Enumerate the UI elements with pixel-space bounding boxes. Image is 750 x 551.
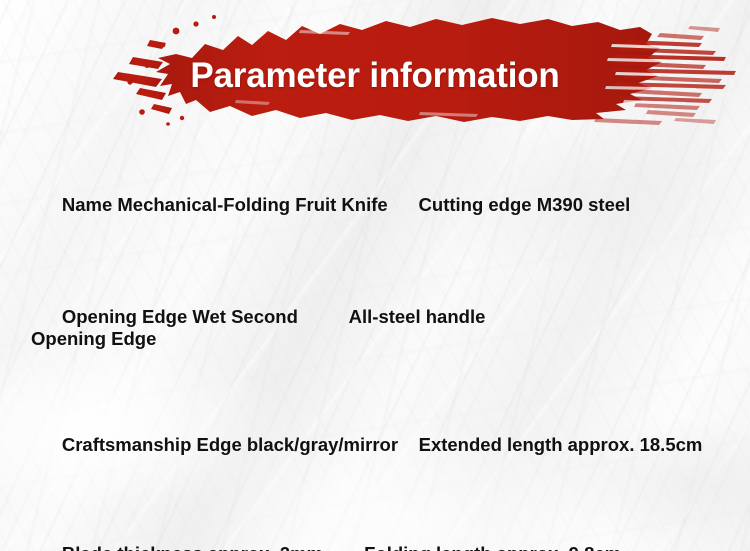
spec-label-left: Opening Edge Wet Second — [62, 306, 298, 327]
spec-row: Craftsmanship Edge black/gray/mirror Ext… — [31, 412, 731, 478]
spec-label-right: All-steel handle — [349, 306, 486, 327]
spec-label-left-wrap: Opening Edge — [31, 328, 156, 349]
spec-label-right: Folding length approx. 9.8cm — [364, 543, 621, 551]
product-parameter-page: Parameter information Name Mechanical-Fo… — [0, 0, 750, 551]
spec-label-left: Craftsmanship Edge black/gray/mirror — [62, 434, 398, 455]
spec-row: Blade thickness approx. 2mm Folding leng… — [31, 521, 731, 551]
spec-row: Opening Edge Wet Second All-steel handle… — [31, 284, 731, 372]
spec-gap — [388, 194, 419, 215]
spec-label-right: Extended length approx. 18.5cm — [419, 434, 703, 455]
spec-gap — [398, 434, 419, 455]
spec-gap — [323, 543, 364, 551]
spec-gap — [298, 306, 349, 327]
parameter-list: Name Mechanical-Folding Fruit Knife Cutt… — [31, 172, 731, 551]
spec-label-right: Cutting edge M390 steel — [419, 194, 631, 215]
spec-label-left: Blade thickness approx. 2mm — [62, 543, 323, 551]
spec-row: Name Mechanical-Folding Fruit Knife Cutt… — [31, 172, 731, 238]
page-title: Parameter information — [0, 55, 750, 97]
spec-label-left: Name Mechanical-Folding Fruit Knife — [62, 194, 388, 215]
